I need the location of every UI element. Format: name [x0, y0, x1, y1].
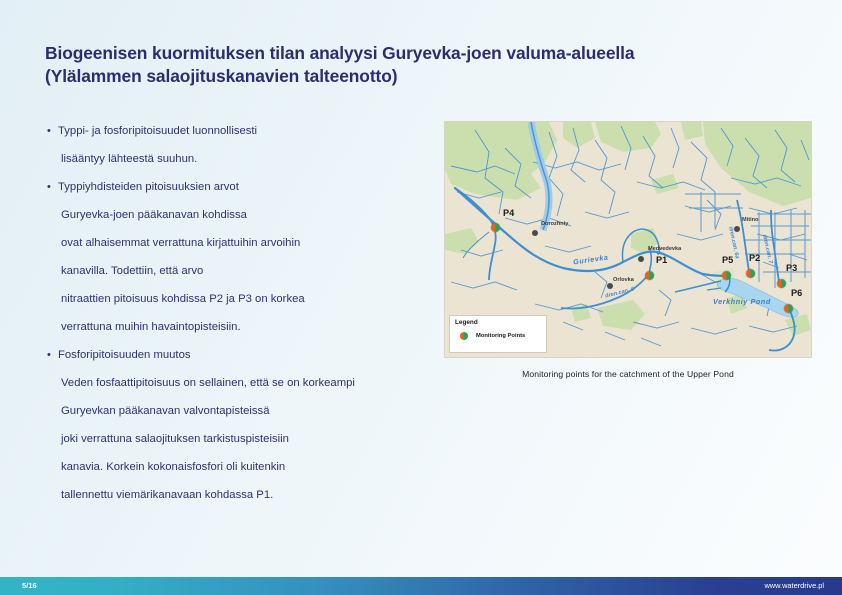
body-continuation-line: joki verrattuna salaojituksen tarkistusp… — [46, 425, 438, 453]
monitoring-point-label-p6: P6 — [791, 288, 802, 298]
bullet-marker-icon: • — [47, 117, 51, 145]
body-continuation-line: ovat alhaisemmat verrattuna kirjattuihin… — [46, 229, 438, 257]
monitoring-point-p1[interactable] — [645, 271, 654, 280]
body-continuation-line: kanavia. Korkein kokonaisfosfori oli kui… — [46, 453, 438, 481]
town-dot-orlovka — [607, 283, 613, 289]
page-number: 5/16 — [22, 577, 37, 595]
place-label-mitino: Mitino — [742, 217, 758, 223]
body-continuation-line: kanavilla. Todettiin, että arvo — [46, 257, 438, 285]
monitoring-point-icon — [460, 332, 468, 340]
monitoring-point-p6[interactable] — [784, 304, 793, 313]
body-bullet-text: Typpiyhdisteiden pitoisuuksien arvot — [58, 181, 239, 193]
map-legend-title: Legend — [455, 319, 541, 326]
body-bullet-text: Fosforipitoisuuden muutos — [58, 349, 191, 361]
body-continuation-line: tallennettu viemärikanavaan kohdassa P1. — [46, 481, 438, 509]
body-continuation-line: verrattuna muihin havaintopisteisiin. — [46, 313, 438, 341]
slide-canvas: Biogeenisen kuormituksen tilan analyysi … — [0, 0, 842, 595]
map-legend: Legend Monitoring Points — [449, 315, 547, 353]
town-dot-mitino — [734, 226, 740, 232]
place-label-orlovka: Orlovka — [613, 277, 634, 283]
body-bullet-text: Typpi- ja fosforipitoisuudet luonnollise… — [58, 125, 257, 137]
pond-label-verkhniy: Verkhniy Pond — [713, 297, 771, 306]
monitoring-point-label-p4: P4 — [503, 208, 514, 218]
monitoring-point-label-p1: P1 — [656, 255, 667, 265]
page-title-line-1: Biogeenisen kuormituksen tilan analyysi … — [45, 42, 785, 65]
body-bullet-line: •Fosforipitoisuuden muutos — [46, 341, 438, 369]
body-bullet-line: •Typpiyhdisteiden pitoisuuksien arvot — [46, 173, 438, 201]
website-url[interactable]: www.waterdrive.pl — [764, 577, 824, 595]
body-bullet-line: •Typpi- ja fosforipitoisuudet luonnollis… — [46, 117, 438, 145]
body-continuation-line: Veden fosfaattipitoisuus on sellainen, e… — [46, 369, 438, 397]
map-legend-label: Monitoring Points — [476, 333, 525, 339]
footer-bar: 5/16 www.waterdrive.pl — [0, 577, 842, 595]
map-caption: Monitoring points for the catchment of t… — [444, 369, 812, 379]
map-figure: Dorozhniy Medvedevka Orlovka Mitino Guri… — [444, 121, 812, 358]
body-continuation-line: nitraattien pitoisuus kohdissa P2 ja P3 … — [46, 285, 438, 313]
page-title-line-2: (Ylälammen salaojituskanavien talteenott… — [45, 65, 785, 88]
monitoring-point-label-p2: P2 — [749, 253, 760, 263]
monitoring-point-p3[interactable] — [777, 279, 786, 288]
town-dot-dorozhniy — [532, 230, 538, 236]
town-dot-medvedevka — [638, 256, 644, 262]
monitoring-point-p4[interactable] — [491, 223, 500, 232]
bullet-marker-icon: • — [47, 341, 51, 369]
monitoring-point-label-p5: P5 — [722, 255, 733, 265]
place-label-dorozhniy: Dorozhniy — [541, 221, 568, 227]
body-continuation-line: Guryevka-joen pääkanavan kohdissa — [46, 201, 438, 229]
monitoring-point-label-p3: P3 — [786, 263, 797, 273]
body-text-block: •Typpi- ja fosforipitoisuudet luonnollis… — [46, 117, 438, 509]
page-title: Biogeenisen kuormituksen tilan analyysi … — [45, 42, 785, 88]
body-continuation-line: lisääntyy lähteestä suuhun. — [46, 145, 438, 173]
map-legend-row-monitoring-points: Monitoring Points — [455, 332, 541, 340]
catchment-map: Dorozhniy Medvedevka Orlovka Mitino Guri… — [444, 121, 812, 358]
monitoring-point-p2[interactable] — [746, 269, 755, 278]
monitoring-point-p5[interactable] — [722, 271, 731, 280]
place-label-medvedevka: Medvedevka — [648, 246, 681, 252]
body-continuation-line: Guryevkan pääkanavan valvontapisteissä — [46, 397, 438, 425]
bullet-marker-icon: • — [47, 173, 51, 201]
